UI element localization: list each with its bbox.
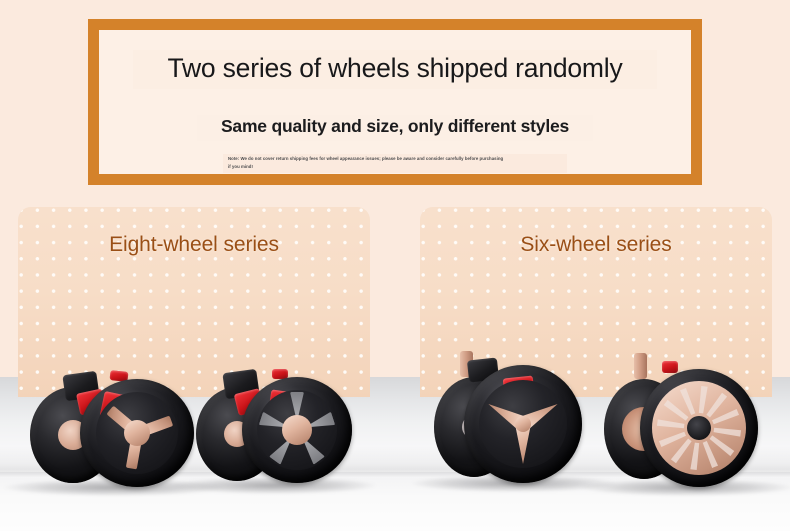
product-image-six-wheel-multi-spoke[interactable] (604, 365, 770, 487)
disclaimer-note: Note: We do not cover return shipping fe… (223, 154, 567, 173)
product-infographic: Two series of wheels shipped randomly Sa… (0, 0, 790, 531)
note-line-2: if you mind! (228, 163, 567, 171)
product-image-eight-wheel-3-spoke[interactable] (28, 369, 200, 487)
axle-stem (634, 353, 647, 379)
panel-title-eight-wheel: Eight-wheel series (18, 233, 370, 257)
product-image-six-wheel-tri-star[interactable] (434, 361, 594, 483)
center-cap (515, 416, 531, 432)
front-tire (242, 377, 352, 483)
header-banner: Two series of wheels shipped randomly Sa… (88, 19, 702, 185)
page-subtitle: Same quality and size, only different st… (221, 116, 569, 138)
note-line-1: Note: We do not cover return shipping fe… (228, 155, 567, 163)
front-tire (464, 365, 582, 483)
page-title: Two series of wheels shipped randomly (167, 52, 622, 85)
title-highlight: Two series of wheels shipped randomly (133, 50, 656, 89)
panel-title-six-wheel: Six-wheel series (420, 233, 772, 257)
front-tire (80, 379, 194, 487)
subtitle-highlight: Same quality and size, only different st… (197, 115, 593, 141)
center-cap (124, 420, 150, 446)
product-shadow (174, 477, 376, 494)
product-image-eight-wheel-5-spoke[interactable] (196, 369, 354, 485)
product-showcase: Eight-wheel series Six-wheel series (0, 185, 790, 531)
center-cap (282, 415, 312, 445)
center-cap (687, 416, 711, 440)
front-tire (640, 369, 758, 487)
brake-accent-top (662, 361, 678, 373)
